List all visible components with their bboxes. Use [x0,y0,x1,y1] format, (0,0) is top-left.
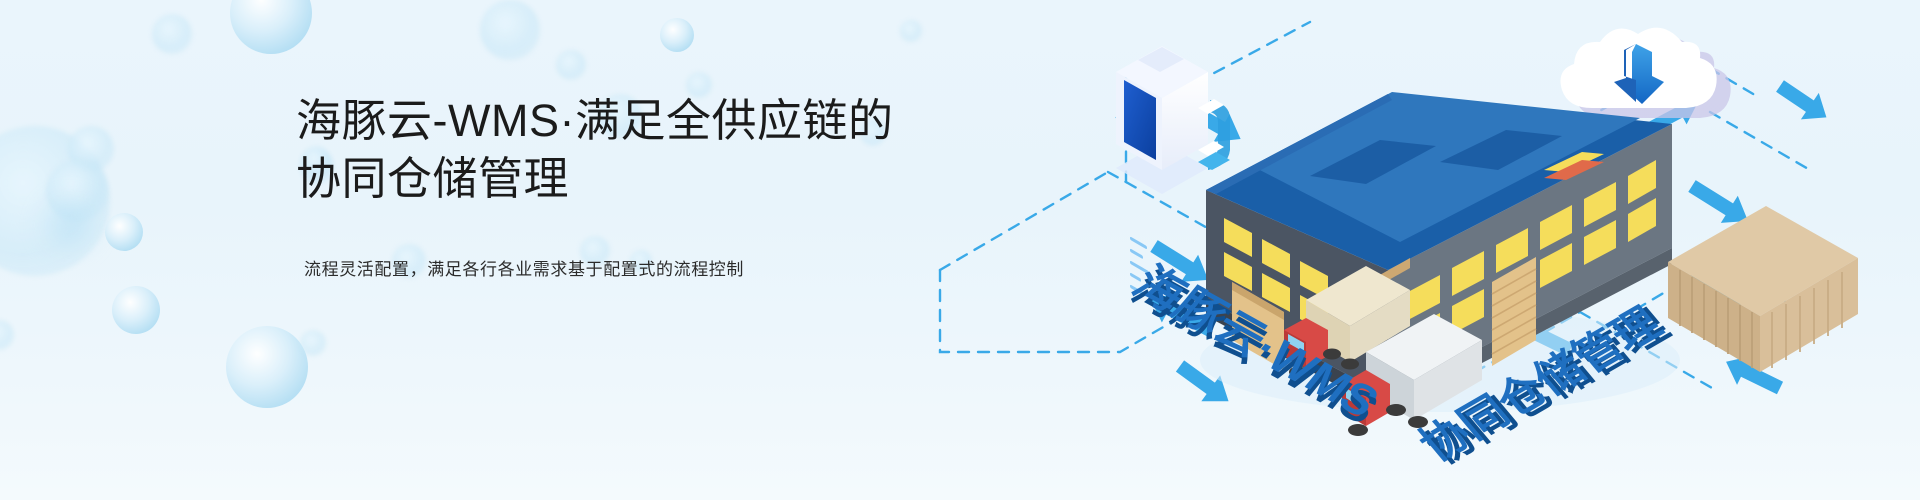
bubble-1 [152,14,192,54]
promo-banner: 海豚云-WMS·满足全供应链的 协同仓储管理 流程灵活配置，满足各行各业需求基于… [0,0,1920,500]
bubble-5 [40,196,98,254]
banner-copy: 海豚云-WMS·满足全供应链的 协同仓储管理 流程灵活配置，满足各行各业需求基于… [296,92,916,280]
bubble-14 [556,50,586,80]
bubble-8 [112,286,160,334]
bubble-4 [46,160,108,222]
bubble-0 [230,0,312,54]
shipping-container [1668,206,1858,372]
bubble-9 [226,326,308,408]
bubble-2 [0,126,110,276]
bubble-11 [0,320,14,350]
banner-subtitle: 流程灵活配置，满足各行各业需求基于配置式的流程控制 [304,255,916,280]
bubble-15 [660,18,694,52]
page-title: 海豚云-WMS·满足全供应链的 协同仓储管理 [296,92,916,207]
bubble-13 [480,0,540,60]
warehouse-illustration: 海豚云·WMS 海豚云·WMS 协同仓储管理 协同仓储管理 [880,0,1920,500]
bubble-3 [68,126,114,172]
bubble-10 [300,330,326,356]
bubble-6 [105,213,143,251]
cloud-download-icon [1561,28,1731,118]
